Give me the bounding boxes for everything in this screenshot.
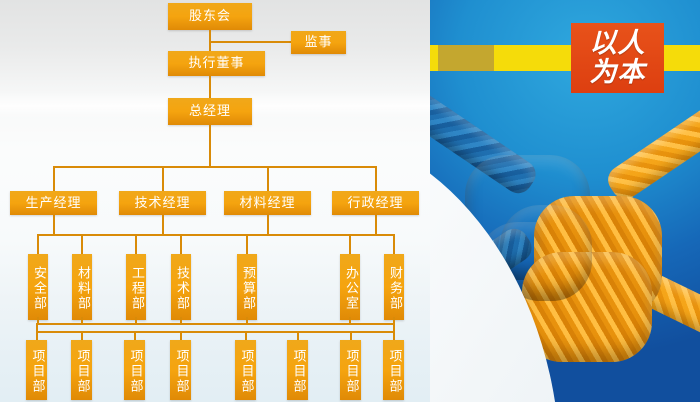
node-project-department-6[interactable]: 项目部 — [287, 340, 308, 400]
connector-bus-to-project-1 — [36, 331, 38, 340]
org-chart-page: 以人为本 股东会 监事 执行董事 总经理 生产经理 技术经理 材料经理 行政经理 — [0, 0, 700, 402]
node-project-department-4[interactable]: 项目部 — [170, 340, 191, 400]
projects-bus-line-lower — [36, 331, 394, 333]
connector-manager-4-down — [375, 215, 377, 234]
connector-bus-to-project-6 — [297, 331, 299, 340]
node-project-department-2[interactable]: 项目部 — [71, 340, 92, 400]
org-chart: 股东会 监事 执行董事 总经理 生产经理 技术经理 材料经理 行政经理 — [0, 0, 470, 402]
connector-director-to-gm — [209, 76, 211, 98]
node-manager-technology[interactable]: 技术经理 — [119, 191, 206, 215]
departments-bus-line — [37, 234, 394, 236]
connector-bus-to-project-8 — [393, 331, 395, 340]
connector-bus-to-department-2 — [81, 234, 83, 254]
managers-bus-line — [53, 166, 377, 168]
node-department-materials[interactable]: 材料部 — [72, 254, 92, 320]
connector-bus-to-project-7 — [350, 331, 352, 340]
connector-bus-to-manager-2 — [162, 166, 164, 191]
connector-bus-to-project-2 — [81, 331, 83, 340]
node-executive-director[interactable]: 执行董事 — [168, 51, 265, 76]
connector-bus-to-manager-3 — [267, 166, 269, 191]
node-manager-materials[interactable]: 材料经理 — [224, 191, 311, 215]
node-project-department-1[interactable]: 项目部 — [26, 340, 47, 400]
connector-bus-to-project-5 — [245, 331, 247, 340]
node-supervisor[interactable]: 监事 — [291, 31, 346, 54]
connector-bus-to-department-7 — [393, 234, 395, 254]
node-project-department-3[interactable]: 项目部 — [124, 340, 145, 400]
node-department-finance[interactable]: 财务部 — [384, 254, 404, 320]
node-general-manager[interactable]: 总经理 — [168, 98, 252, 125]
connector-manager-1-down — [53, 215, 55, 234]
connector-bus-to-department-6 — [349, 234, 351, 254]
node-project-department-5[interactable]: 项目部 — [235, 340, 256, 400]
node-department-budget[interactable]: 预算部 — [237, 254, 257, 320]
connector-bus-to-department-3 — [135, 234, 137, 254]
connector-bus-to-department-1 — [37, 234, 39, 254]
projects-bus-line — [36, 323, 394, 325]
node-project-department-7[interactable]: 项目部 — [340, 340, 361, 400]
connector-bus-to-manager-4 — [375, 166, 377, 191]
connector-manager-2-down — [162, 215, 164, 234]
connector-bus-to-department-4 — [180, 234, 182, 254]
node-shareholders-meeting[interactable]: 股东会 — [168, 3, 252, 30]
company-slogan-text: 以人为本 — [585, 29, 651, 87]
node-manager-administration[interactable]: 行政经理 — [332, 191, 419, 215]
node-department-office[interactable]: 办公室 — [340, 254, 360, 320]
node-project-department-8[interactable]: 项目部 — [383, 340, 404, 400]
connector-manager-3-down — [267, 215, 269, 234]
node-department-engineering[interactable]: 工程部 — [126, 254, 146, 320]
connector-gm-to-managers-bus — [209, 125, 211, 166]
connector-bus-to-department-5 — [246, 234, 248, 254]
rope-knot-photo: 以人为本 — [430, 0, 700, 402]
connector-to-supervisor — [209, 41, 291, 43]
company-slogan-logo: 以人为本 — [571, 23, 664, 93]
connector-bus-to-project-3 — [134, 331, 136, 340]
node-department-safety[interactable]: 安全部 — [28, 254, 48, 320]
node-manager-production[interactable]: 生产经理 — [10, 191, 97, 215]
connector-bus-to-manager-1 — [53, 166, 55, 191]
node-department-technology[interactable]: 技术部 — [171, 254, 191, 320]
connector-bus-to-project-4 — [180, 331, 182, 340]
